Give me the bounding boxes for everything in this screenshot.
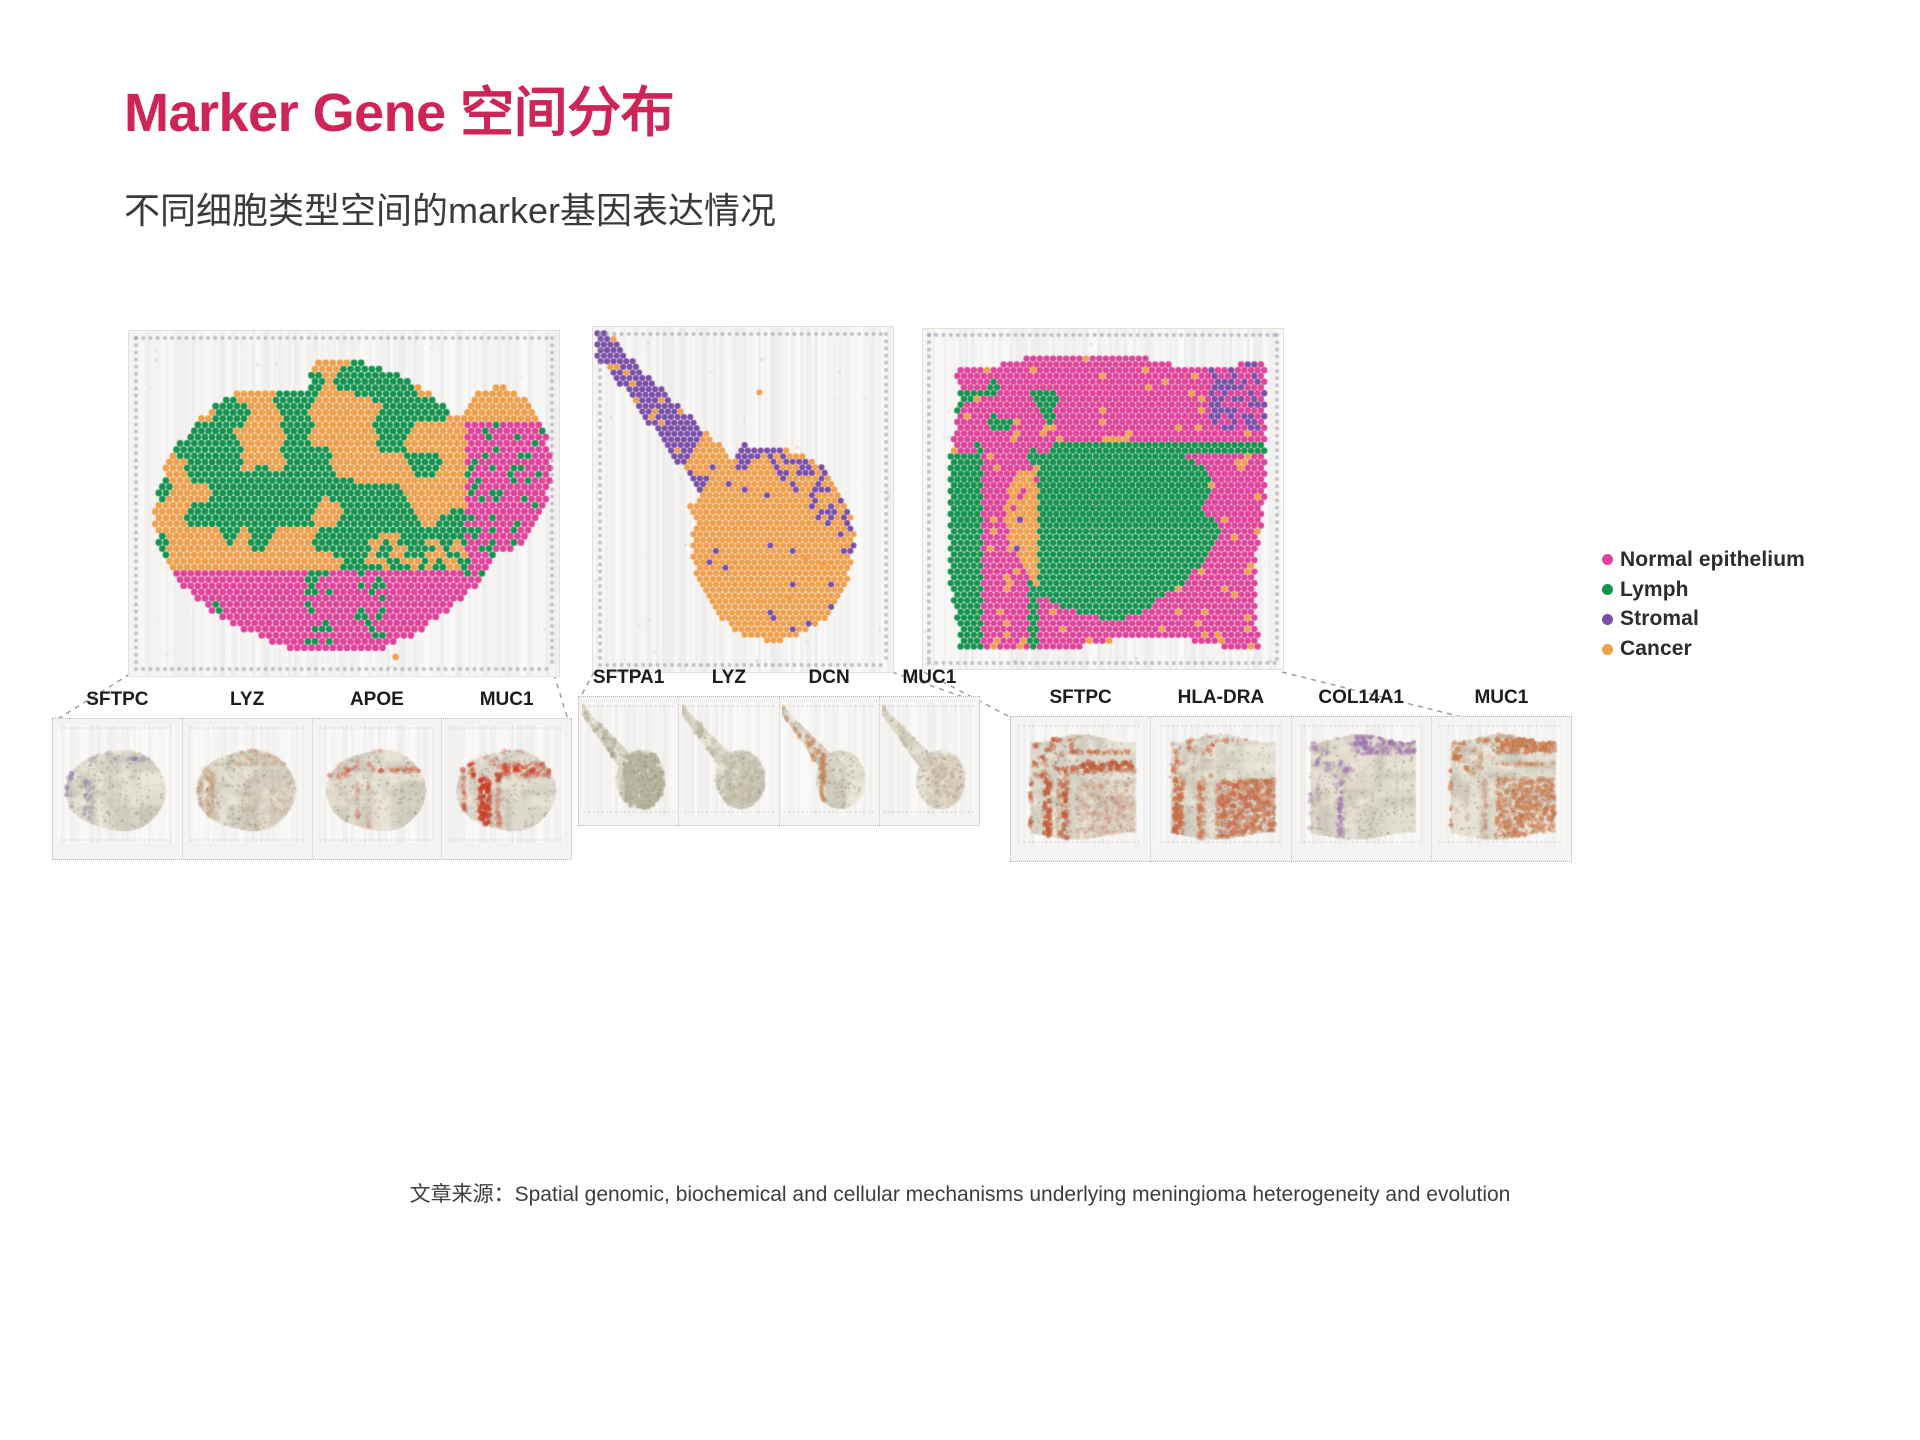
figure-container: c Normal epithelium <box>50 398 1880 1078</box>
legend-dot-icon-normal-epithelium <box>1602 554 1613 565</box>
gene-panel-muc1-2[interactable]: MUC1 <box>880 697 979 825</box>
legend-dot-icon-stromal <box>1602 614 1613 625</box>
source-note: 文章来源：Spatial genomic, biochemical and ce… <box>410 1178 1511 1208</box>
legend-item-lymph[interactable]: Lymph <box>1602 576 1872 604</box>
gene-label: MUC1 <box>880 667 979 689</box>
gene-label: HLA-DRA <box>1151 687 1290 709</box>
gene-panel-sftpc-3[interactable]: SFTPC <box>1011 717 1151 861</box>
source-label: 文章来源： <box>410 1183 515 1206</box>
legend-label-lymph: Lymph <box>1620 576 1689 604</box>
legend-item-cancer[interactable]: Cancer <box>1602 635 1872 663</box>
gene-label: MUC1 <box>442 689 571 711</box>
slide-root: Marker Gene 空间分布 不同细胞类型空间的marker基因表达情况 c <box>0 0 1920 1440</box>
gene-label: LYZ <box>183 689 312 711</box>
gene-panel-muc1-1[interactable]: MUC1 <box>442 719 571 859</box>
legend-label-cancer: Cancer <box>1620 635 1692 663</box>
legend-dot-icon-lymph <box>1602 584 1613 595</box>
gene-image <box>1437 723 1565 845</box>
gene-panel-sftpa1-2[interactable]: SFTPA1 <box>579 697 679 825</box>
gene-panel-col14a1-3[interactable]: COL14A1 <box>1292 717 1432 861</box>
cell-type-legend: Normal epithelium Lymph Stromal Cancer <box>1602 546 1872 665</box>
tissue-map-1[interactable] <box>128 330 560 677</box>
gene-label: SFTPA1 <box>579 667 678 689</box>
marker-strip-1: SFTPC LYZ APOE MUC1 <box>52 718 572 860</box>
legend-item-normal-epithelium[interactable]: Normal epithelium <box>1602 546 1872 574</box>
tissue-map-3[interactable] <box>922 328 1284 670</box>
gene-label: SFTPC <box>53 689 182 711</box>
gene-image <box>1157 723 1285 845</box>
gene-panel-dcn-2[interactable]: DCN <box>780 697 880 825</box>
gene-panel-sftpc-1[interactable]: SFTPC <box>53 719 183 859</box>
legend-dot-icon-cancer <box>1602 644 1613 655</box>
tissue-map-1-canvas <box>129 331 559 676</box>
gene-panel-muc1-3[interactable]: MUC1 <box>1432 717 1571 861</box>
gene-label: MUC1 <box>1432 687 1571 709</box>
gene-panel-hla-dra-3[interactable]: HLA-DRA <box>1151 717 1291 861</box>
tissue-map-2[interactable] <box>592 326 894 673</box>
gene-image <box>882 703 976 815</box>
gene-label: DCN <box>780 667 879 689</box>
tissue-map-3-canvas <box>923 329 1283 669</box>
gene-label: COL14A1 <box>1292 687 1431 709</box>
gene-image <box>582 703 676 815</box>
gene-image <box>1017 723 1145 845</box>
gene-panel-lyz-2[interactable]: LYZ <box>679 697 779 825</box>
marker-strip-3: SFTPC HLA-DRA COL14A1 MUC1 <box>1010 716 1572 862</box>
marker-strip-2: SFTPA1 LYZ DCN MUC1 <box>578 696 980 826</box>
gene-image <box>318 725 436 843</box>
legend-label-stromal: Stromal <box>1620 605 1699 633</box>
gene-image <box>682 703 776 815</box>
gene-image <box>448 725 566 843</box>
gene-image <box>58 725 176 843</box>
gene-panel-apoe-1[interactable]: APOE <box>313 719 443 859</box>
page-subtitle: 不同细胞类型空间的marker基因表达情况 <box>124 188 776 233</box>
gene-label: SFTPC <box>1011 687 1150 709</box>
gene-image <box>188 725 306 843</box>
gene-image <box>1297 723 1425 845</box>
gene-image <box>782 703 876 815</box>
source-text: Spatial genomic, biochemical and cellula… <box>515 1183 1511 1206</box>
gene-label: APOE <box>313 689 442 711</box>
page-title: Marker Gene 空间分布 <box>124 84 674 142</box>
gene-panel-lyz-1[interactable]: LYZ <box>183 719 313 859</box>
legend-label-normal-epithelium: Normal epithelium <box>1620 546 1805 574</box>
tissue-map-2-canvas <box>593 327 893 672</box>
legend-item-stromal[interactable]: Stromal <box>1602 605 1872 633</box>
gene-label: LYZ <box>679 667 778 689</box>
